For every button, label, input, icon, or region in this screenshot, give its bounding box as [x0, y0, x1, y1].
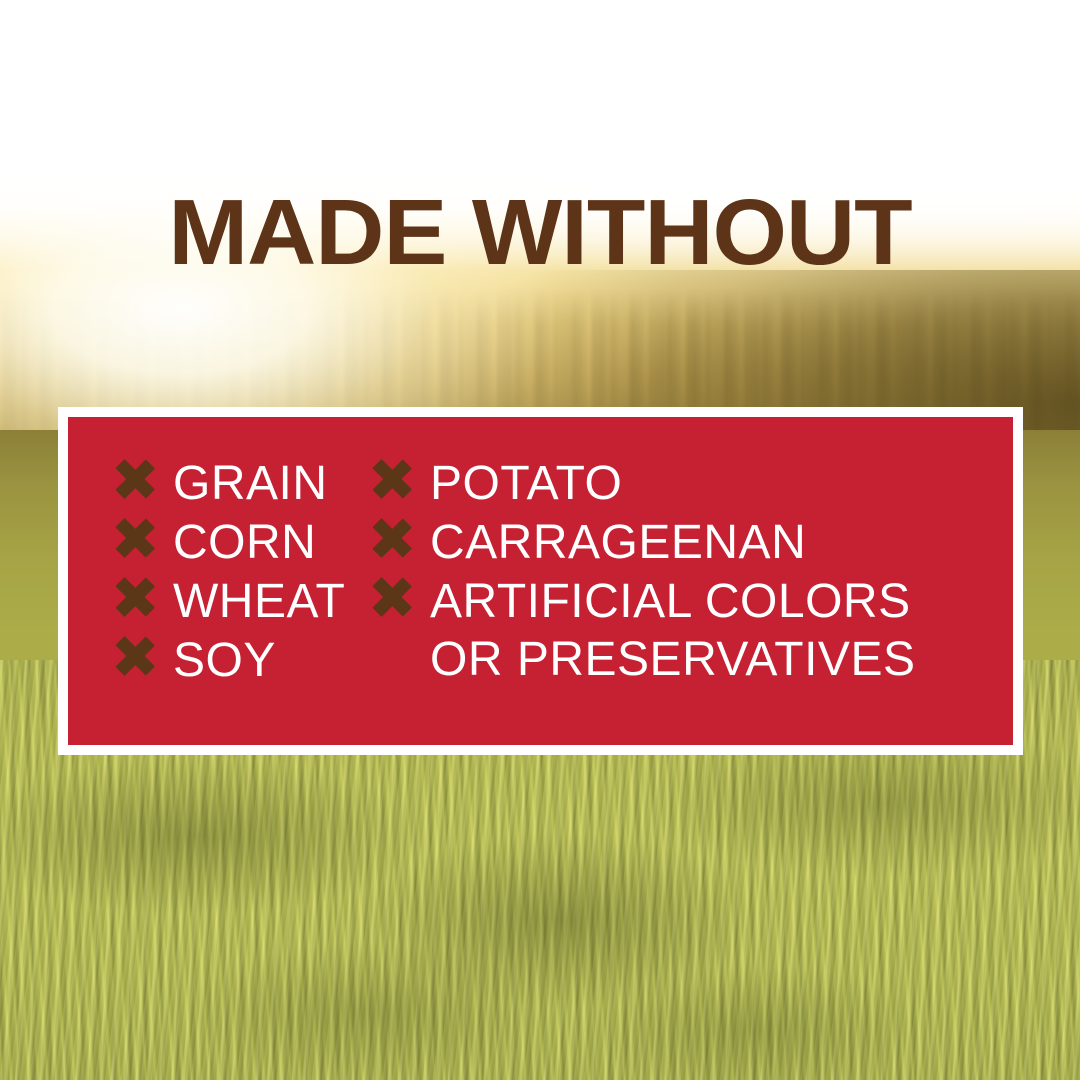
x-mark-icon: [373, 578, 411, 616]
x-mark-icon: [116, 519, 154, 557]
x-mark-icon: [116, 578, 154, 616]
list-item: ARTIFICIAL COLORS OR PRESERVATIVES: [373, 573, 1013, 689]
list-item: CORN: [116, 514, 373, 573]
list-item-label: GRAIN: [173, 455, 328, 513]
promo-graphic: MADE WITHOUT GRAIN CORN WHEAT: [0, 0, 1080, 1080]
page-title: MADE WITHOUT: [0, 186, 1080, 279]
list-item-label: WHEAT: [173, 573, 345, 631]
x-mark-icon: [116, 460, 154, 498]
list-item-label: CARRAGEENAN: [430, 514, 806, 572]
exclusion-column-left: GRAIN CORN WHEAT SOY: [68, 455, 373, 691]
made-without-panel-frame: GRAIN CORN WHEAT SOY: [58, 407, 1023, 755]
list-item: WHEAT: [116, 573, 373, 632]
list-item-label: POTATO: [430, 455, 622, 513]
exclusion-column-right: POTATO CARRAGEENAN ARTIFICIAL COLORS OR …: [373, 455, 1013, 689]
list-item-label: ARTIFICIAL COLORS OR PRESERVATIVES: [430, 573, 915, 689]
list-item: GRAIN: [116, 455, 373, 514]
list-item: CARRAGEENAN: [373, 514, 1013, 573]
x-mark-icon: [373, 460, 411, 498]
list-item: SOY: [116, 632, 373, 691]
x-mark-icon: [116, 637, 154, 675]
list-item: POTATO: [373, 455, 1013, 514]
list-item-label: CORN: [173, 514, 316, 572]
list-item-label: SOY: [173, 632, 276, 690]
x-mark-icon: [373, 519, 411, 557]
made-without-panel: GRAIN CORN WHEAT SOY: [68, 417, 1013, 745]
exclusion-list: GRAIN CORN WHEAT SOY: [68, 455, 1013, 691]
